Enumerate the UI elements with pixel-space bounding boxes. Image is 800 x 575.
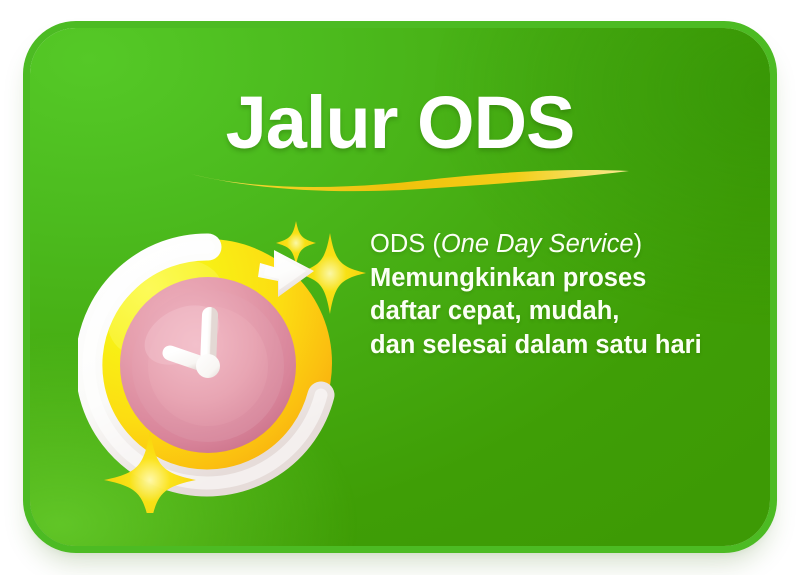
description-block: ODS (One Day Service) Memungkinkan prose…: [370, 228, 770, 362]
ods-prefix: ODS (: [370, 230, 441, 258]
ods-expansion: One Day Service: [441, 230, 634, 258]
gold-swoosh-divider: [185, 160, 635, 200]
one-day-service-clock-icon: [78, 203, 378, 513]
description-line-2: Memungkinkan proses: [370, 262, 770, 296]
poster-canvas: Jalur ODS: [0, 0, 800, 575]
description-line-1: ODS (One Day Service): [370, 228, 770, 262]
page-title: Jalur ODS: [30, 86, 770, 160]
description-line-4: dan selesai dalam satu hari: [370, 329, 770, 363]
ods-suffix: ): [634, 230, 643, 258]
jalur-ods-card: Jalur ODS: [30, 28, 770, 546]
description-line-3: daftar cepat, mudah,: [370, 295, 770, 329]
